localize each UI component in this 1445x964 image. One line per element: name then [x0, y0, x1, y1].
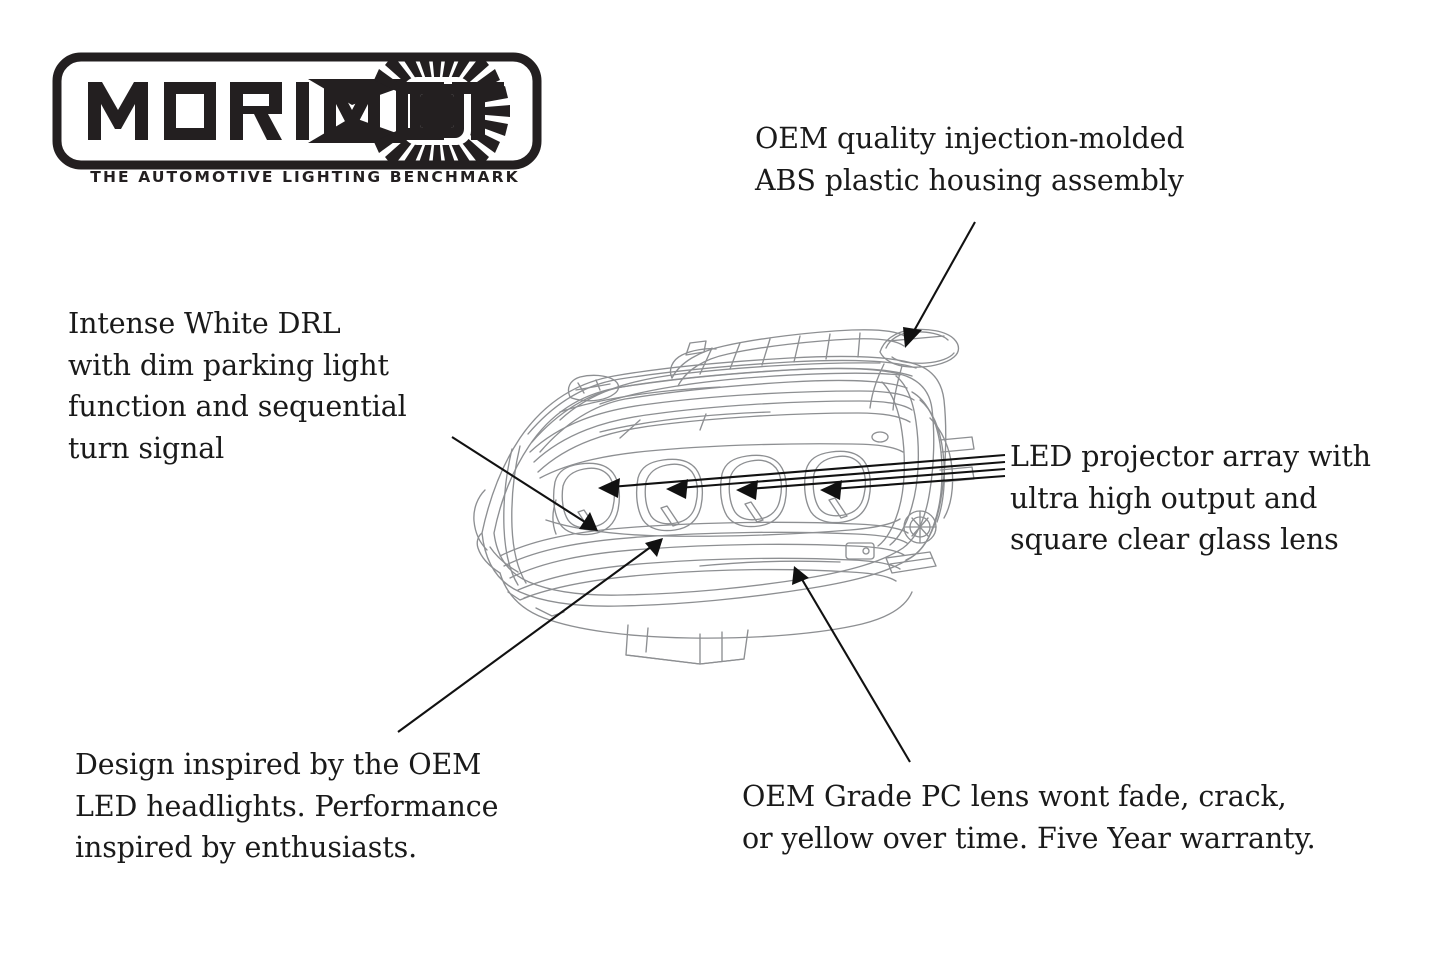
leader-projector	[598, 455, 1005, 500]
leader-design	[398, 538, 663, 732]
callout-line: function and sequential	[68, 386, 407, 428]
headlight-outline-paths	[474, 329, 974, 664]
projector-cell-group	[554, 451, 871, 534]
callout-line: Design inspired by the OEM	[75, 744, 498, 786]
callout-line: OEM quality injection-molded	[755, 118, 1185, 160]
callout-line: ABS plastic housing assembly	[755, 160, 1185, 202]
callout-line: LED headlights. Performance	[75, 786, 498, 828]
logo-tagline: THE AUTOMOTIVE LIGHTING BENCHMARK	[70, 168, 540, 186]
callout-line: turn signal	[68, 428, 407, 470]
leader-drl	[452, 437, 598, 531]
morimoto-logo: THE AUTOMOTIVE LIGHTING BENCHMARK	[52, 52, 542, 192]
logo-wordmark-icon	[88, 82, 504, 140]
logo-badge-icon	[52, 52, 542, 170]
callout-line: with dim parking light	[68, 345, 407, 387]
product-feature-diagram: THE AUTOMOTIVE LIGHTING BENCHMARK	[0, 0, 1445, 964]
callout-pc-lens-text: OEM Grade PC lens wont fade, crack, or y…	[742, 776, 1316, 859]
callout-line: square clear glass lens	[1010, 519, 1371, 561]
leader-housing	[903, 222, 975, 348]
callout-line: OEM Grade PC lens wont fade, crack,	[742, 776, 1316, 818]
callout-drl-text: Intense White DRL with dim parking light…	[68, 303, 407, 469]
callout-projector-text: LED projector array with ultra high outp…	[1010, 436, 1371, 561]
callout-line: Intense White DRL	[68, 303, 407, 345]
leader-pc-lens	[792, 566, 910, 762]
callout-design-text: Design inspired by the OEM LED headlight…	[75, 744, 498, 869]
callout-line: ultra high output and	[1010, 478, 1371, 520]
callout-leader-lines	[398, 222, 1005, 762]
callout-line: inspired by enthusiasts.	[75, 827, 498, 869]
callout-line: LED projector array with	[1010, 436, 1371, 478]
callout-housing-text: OEM quality injection-molded ABS plastic…	[755, 118, 1185, 201]
callout-line: or yellow over time. Five Year warranty.	[742, 818, 1316, 860]
